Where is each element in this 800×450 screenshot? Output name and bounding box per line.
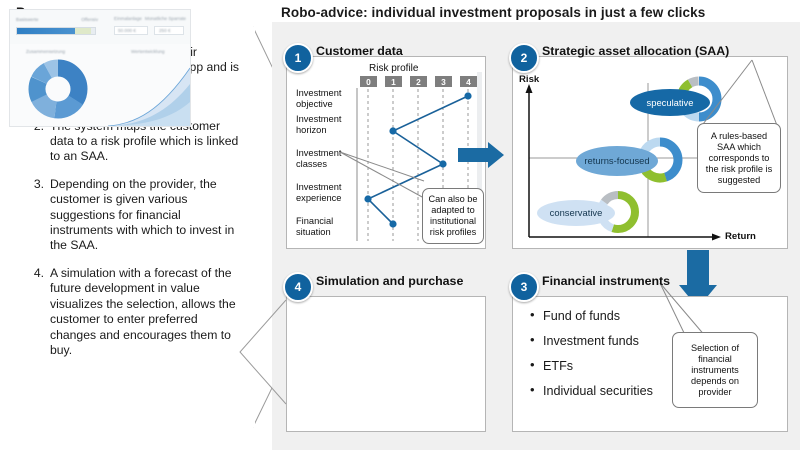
row-label-investment-horizon: Investment horizon: [296, 114, 354, 135]
step-badge-4: 4: [283, 272, 313, 302]
scale-cell-0: 0: [360, 76, 377, 87]
mock-label-zusammensetzung: Zusammensetzung: [26, 49, 65, 54]
fi-item-fund-of-funds: Fund of funds: [530, 308, 653, 324]
simulation-mockup: Basiswerte Offensiv Einmalanlage Monatli…: [9, 9, 191, 127]
risk-profile-title: Risk profile: [369, 63, 418, 74]
row-label-investment-classes: Investment classes: [296, 148, 354, 169]
simulation-heading: Simulation and purchase: [316, 274, 463, 288]
fi-item-etfs: ETFs: [530, 358, 653, 374]
step-badge-1: 1: [283, 43, 313, 73]
step-text: Depending on the provider, the customer …: [50, 177, 240, 254]
mock-area-chart-icon: [106, 62, 191, 127]
scale-cell-1: 1: [385, 76, 402, 87]
mock-label-basiswerte: Basiswerte: [16, 17, 38, 22]
mock-panel-amounts: Einmalanlage Monatliche Sparrate 50.000 …: [106, 10, 191, 45]
scale-cell-3: 3: [435, 76, 452, 87]
step-number: 4.: [26, 266, 44, 358]
saa-heading: Strategic asset allocation (SAA): [542, 44, 729, 58]
step-text: A simulation with a forecast of the futu…: [50, 266, 240, 358]
simulation-card: [286, 296, 486, 432]
fi-item-investment-funds: Investment funds: [530, 333, 653, 349]
process-step: 3. Depending on the provider, the custom…: [26, 177, 240, 254]
step-badge-3: 3: [509, 272, 539, 302]
mock-panel-risk: Basiswerte Offensiv: [10, 10, 107, 45]
mock-label-wertentwicklung: Wertentwicklung: [131, 49, 165, 54]
row-label-financial-situation: Financial situation: [296, 216, 354, 237]
robo-advice-title: Robo-advice: individual investment propo…: [281, 5, 705, 20]
scale-cell-4: 4: [460, 76, 477, 87]
mock-donut-icon: [10, 56, 106, 127]
mock-input-einmalanlage[interactable]: 50.000 €: [114, 26, 148, 35]
saa-bubble-conservative: conservative: [537, 200, 615, 226]
mock-slider-green: [75, 28, 91, 34]
saa-bubble-speculative: speculative: [630, 89, 710, 116]
row-label-investment-objective: Investment objective: [296, 88, 354, 109]
financial-instruments-callout: Selection of financial instruments depen…: [672, 332, 758, 408]
saa-bubble-returns-focused: returns-focused: [576, 146, 658, 176]
mock-label-sparrate: Monatliche Sparrate: [145, 16, 186, 21]
row-label-investment-experience: Investment experience: [296, 182, 354, 203]
saa-y-axis-label: Risk: [519, 74, 539, 85]
mock-input-sparrate[interactable]: 250 €: [154, 26, 184, 35]
saa-callout: A rules-based SAA which corresponds to t…: [697, 123, 781, 193]
financial-instruments-list: Fund of funds Investment funds ETFs Indi…: [530, 308, 653, 408]
diagram-root: Process 1. The customer submits their re…: [0, 0, 800, 450]
customer-data-heading: Customer data: [316, 44, 403, 58]
saa-x-axis-label: Return: [725, 231, 756, 242]
financial-instruments-heading: Financial instruments: [542, 274, 670, 288]
mock-value-einmalanlage: 50.000 €: [118, 28, 136, 33]
scale-cell-2: 2: [410, 76, 427, 87]
mock-slider-track[interactable]: [16, 27, 96, 35]
mock-panel-performance: Wertentwicklung: [106, 44, 191, 127]
step-badge-2: 2: [509, 43, 539, 73]
mock-label-einmalanlage: Einmalanlage: [114, 16, 142, 21]
step-number: 3.: [26, 177, 44, 254]
customer-data-callout: Can also be adapted to institutional ris…: [422, 188, 484, 244]
mock-panel-composition: Zusammensetzung: [10, 44, 107, 127]
mock-slider-fill: [17, 28, 75, 34]
fi-item-individual-securities: Individual securities: [530, 383, 653, 399]
mock-label-offensiv: Offensiv: [81, 17, 98, 22]
mock-value-sparrate: 250 €: [159, 28, 171, 33]
process-step: 4. A simulation with a forecast of the f…: [26, 266, 240, 358]
